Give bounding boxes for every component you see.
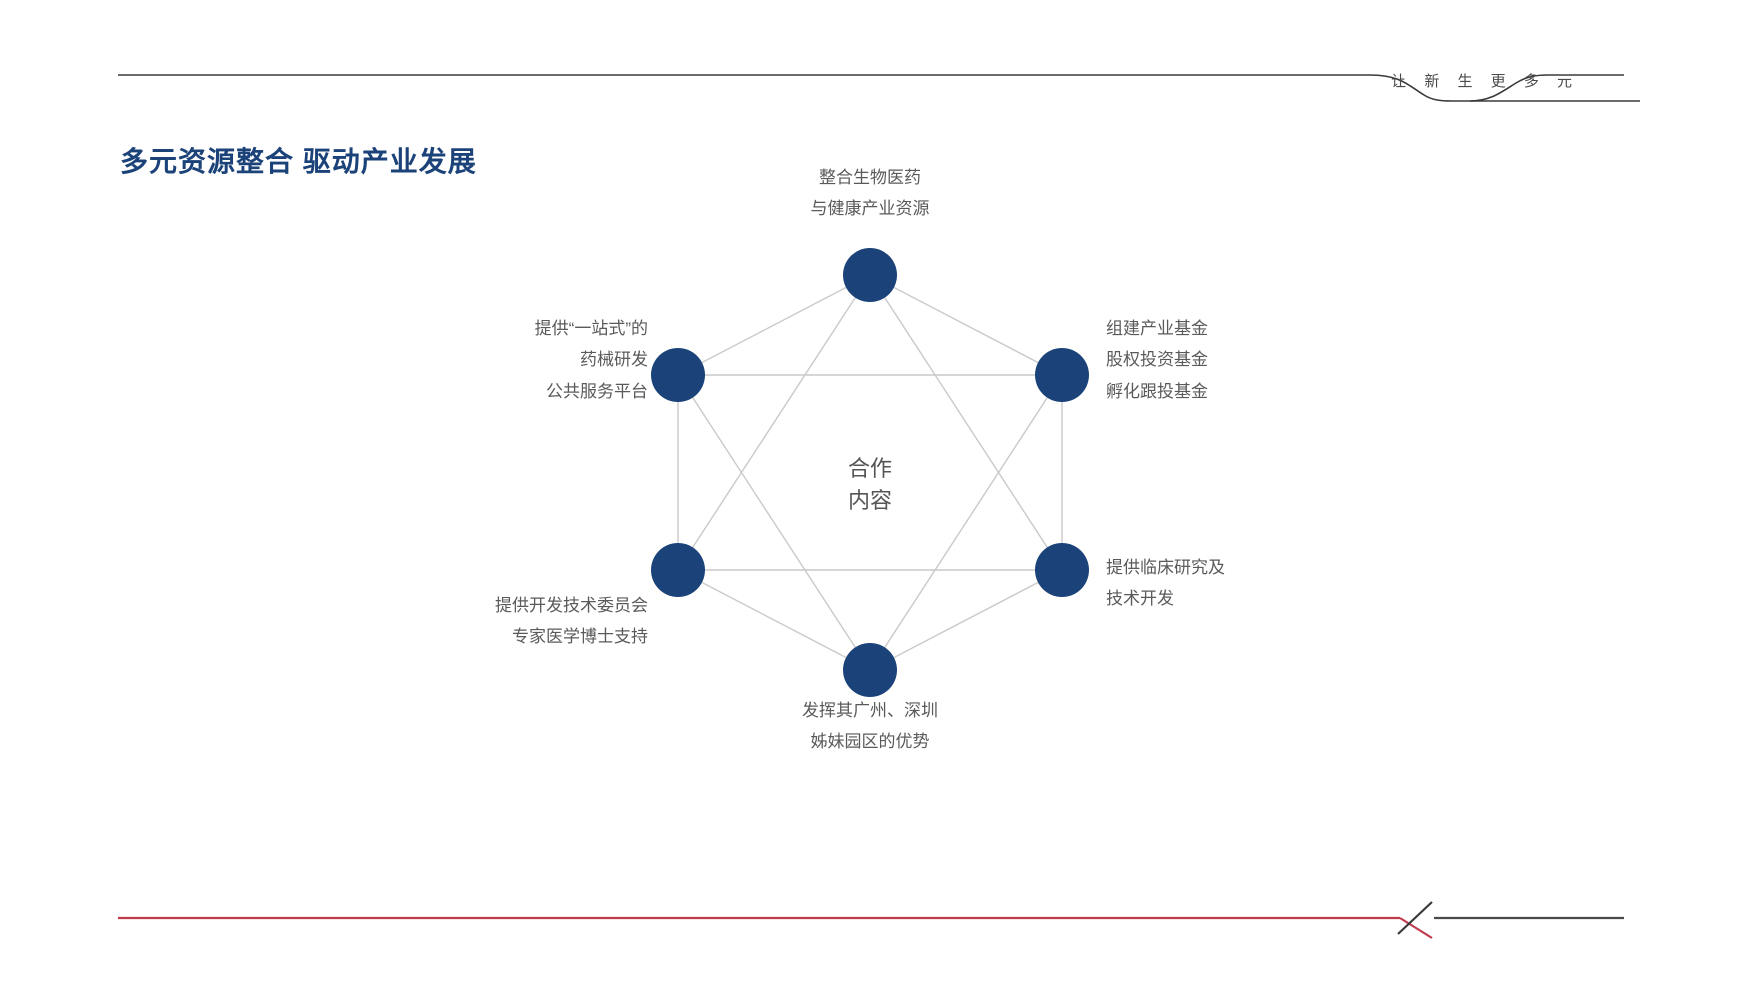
node-label-bottom-right-line-2: 技术开发 [1106, 583, 1346, 614]
cooperation-hexagon-diagram: 合作 内容 整合生物医药 与健康产业资源 组建产业基金 股权投资基金 孵化跟投基… [430, 170, 1310, 850]
slide-canvas: 让 新 生 更 多 元 多元资源整合 驱动产业发展 [0, 0, 1741, 1004]
node-label-bottom-left-line-1: 提供开发技术委员会 [392, 590, 648, 621]
node-label-top-left-line-2: 药械研发 [400, 344, 648, 375]
node-bottom[interactable] [843, 643, 897, 697]
node-label-top: 整合生物医药 与健康产业资源 [700, 162, 1040, 225]
page-title: 多元资源整合 驱动产业发展 [120, 140, 477, 180]
node-label-top-left-line-3: 公共服务平台 [400, 376, 648, 407]
diagram-center-label: 合作 内容 [848, 453, 892, 517]
node-label-top-line-2: 与健康产业资源 [700, 193, 1040, 224]
node-label-top-right: 组建产业基金 股权投资基金 孵化跟投基金 [1106, 313, 1346, 407]
node-label-bottom-line-1: 发挥其广州、深圳 [690, 695, 1050, 726]
node-label-bottom: 发挥其广州、深圳 姊妹园区的优势 [690, 695, 1050, 758]
node-top[interactable] [843, 248, 897, 302]
node-label-bottom-left-line-2: 专家医学博士支持 [392, 621, 648, 652]
center-label-line-1: 合作 [848, 453, 892, 485]
node-label-top-right-line-3: 孵化跟投基金 [1106, 376, 1346, 407]
node-label-top-left-line-1: 提供“一站式”的 [400, 313, 648, 344]
node-top-right[interactable] [1035, 348, 1089, 402]
node-label-bottom-line-2: 姊妹园区的优势 [690, 726, 1050, 757]
node-label-bottom-left: 提供开发技术委员会 专家医学博士支持 [392, 590, 648, 653]
node-label-top-left: 提供“一站式”的 药械研发 公共服务平台 [400, 313, 648, 407]
center-label-line-2: 内容 [848, 485, 892, 517]
footer-rule-decoration [0, 880, 1741, 950]
header-tagline: 让 新 生 更 多 元 [1391, 70, 1579, 91]
node-bottom-left[interactable] [651, 543, 705, 597]
node-label-bottom-right: 提供临床研究及 技术开发 [1106, 552, 1346, 615]
node-label-top-right-line-2: 股权投资基金 [1106, 344, 1346, 375]
node-label-top-line-1: 整合生物医药 [700, 162, 1040, 193]
node-bottom-right[interactable] [1035, 543, 1089, 597]
node-top-left[interactable] [651, 348, 705, 402]
node-label-top-right-line-1: 组建产业基金 [1106, 313, 1346, 344]
node-label-bottom-right-line-1: 提供临床研究及 [1106, 552, 1346, 583]
